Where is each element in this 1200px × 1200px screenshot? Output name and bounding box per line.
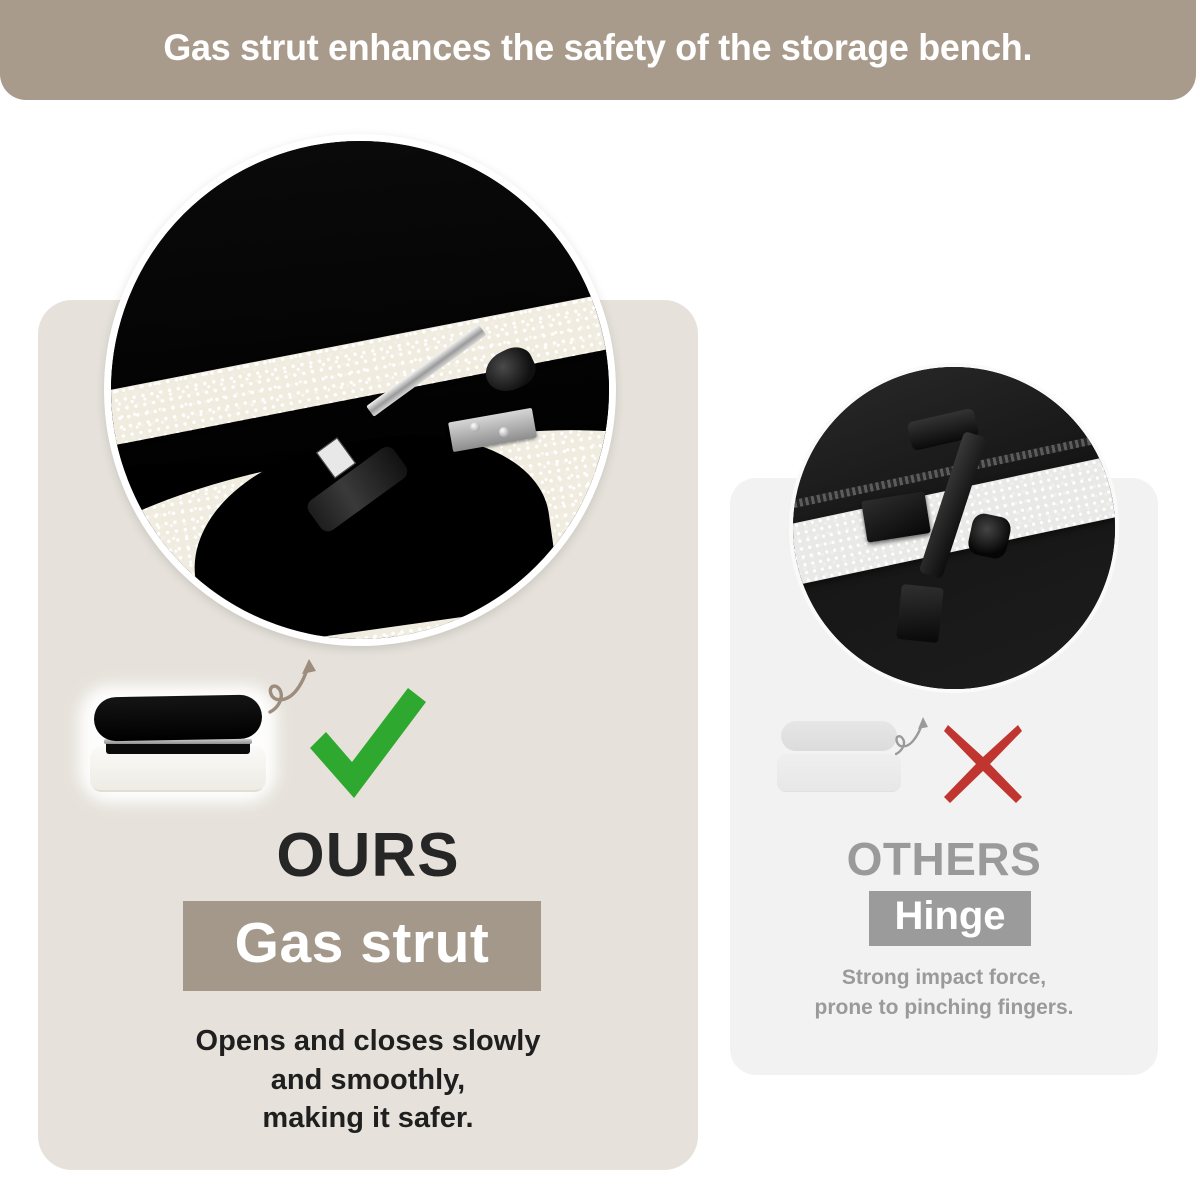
ours-tag-label: Gas strut bbox=[235, 910, 490, 982]
hinge-lower-bracket bbox=[897, 584, 944, 643]
cross-mark-icon bbox=[940, 721, 1026, 807]
others-description: Strong impact force, prone to pinching f… bbox=[730, 963, 1158, 1023]
header-banner: Gas strut enhances the safety of the sto… bbox=[0, 0, 1196, 100]
ours-description-line: Opens and closes slowly bbox=[38, 1022, 698, 1061]
storage-bench-open-icon bbox=[88, 694, 268, 794]
storage-bench-closed-icon bbox=[777, 721, 901, 793]
bench-base bbox=[777, 754, 901, 792]
ours-description-line: and smoothly, bbox=[38, 1061, 698, 1100]
check-mark-icon bbox=[306, 686, 428, 804]
others-tag-label: Hinge bbox=[894, 894, 1005, 943]
ours-description-line: making it safer. bbox=[38, 1099, 698, 1138]
page-title: Gas strut enhances the safety of the sto… bbox=[164, 27, 1033, 73]
others-tag-band: Hinge bbox=[869, 891, 1031, 946]
ours-tag-band: Gas strut bbox=[183, 901, 541, 991]
ours-gas-strut-photo bbox=[104, 134, 616, 646]
bench-lid bbox=[781, 721, 897, 751]
ours-photo-scene bbox=[111, 141, 609, 639]
others-heading: OTHERS bbox=[730, 832, 1158, 886]
others-description-line: Strong impact force, bbox=[730, 963, 1158, 993]
ours-heading: OURS bbox=[38, 820, 698, 891]
others-hinge-photo bbox=[789, 363, 1119, 693]
others-photo-scene bbox=[793, 367, 1115, 689]
bench-lid bbox=[94, 695, 263, 742]
bracket-screw-icon bbox=[470, 422, 480, 432]
ours-description: Opens and closes slowly and smoothly, ma… bbox=[38, 1022, 698, 1138]
others-description-line: prone to pinching fingers. bbox=[730, 993, 1158, 1023]
